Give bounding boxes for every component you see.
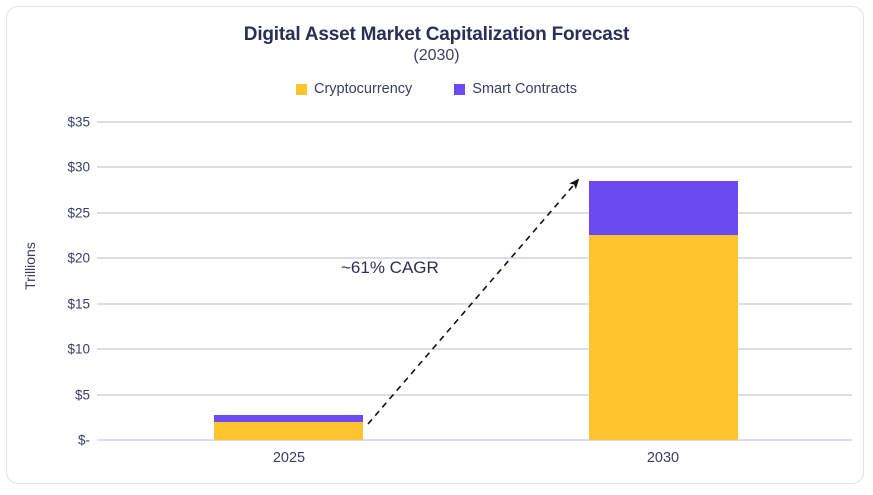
chart-screenshot: Digital Asset Market Capitalization Fore…	[0, 0, 873, 495]
y-axis-tick-label: $5	[20, 387, 90, 402]
gridline	[97, 212, 852, 214]
y-axis-tick-label: $15	[20, 296, 90, 311]
legend-item-smart-contracts[interactable]: Smart Contracts	[454, 81, 577, 97]
x-axis-tick-2030: 2030	[603, 450, 723, 466]
gridline	[97, 348, 852, 350]
x-axis-tick-2025: 2025	[229, 450, 349, 466]
legend-label-smart-contracts: Smart Contracts	[472, 81, 577, 97]
y-axis-tick-label: $35	[20, 115, 90, 130]
cagr-annotation: ~61% CAGR	[341, 258, 439, 278]
gridline	[97, 257, 852, 259]
chart-subtitle: (2030)	[0, 47, 873, 65]
chart-title: Digital Asset Market Capitalization Fore…	[0, 24, 873, 46]
gridline	[97, 121, 852, 123]
legend-swatch-cryptocurrency	[296, 84, 307, 95]
gridline	[97, 394, 852, 396]
legend-item-cryptocurrency[interactable]: Cryptocurrency	[296, 81, 412, 97]
bar-segment-2030-cryptocurrency[interactable]	[589, 235, 738, 440]
bar-segment-2025-smart-contracts[interactable]	[214, 415, 363, 422]
legend-swatch-smart-contracts	[454, 84, 465, 95]
legend-label-cryptocurrency: Cryptocurrency	[314, 81, 412, 97]
y-axis-tick-label: $25	[20, 205, 90, 220]
y-axis-tick-label: $10	[20, 342, 90, 357]
y-axis-tick-label: $30	[20, 160, 90, 175]
axis-baseline	[97, 439, 852, 441]
gridline	[97, 166, 852, 168]
chart-legend: Cryptocurrency Smart Contracts	[0, 81, 873, 97]
gridline	[97, 303, 852, 305]
plot-area	[97, 122, 852, 440]
y-axis-ticks: $-$5$10$15$20$25$30$35	[20, 122, 90, 440]
bar-segment-2030-smart-contracts[interactable]	[589, 181, 738, 235]
bar-segment-2025-cryptocurrency[interactable]	[214, 422, 363, 440]
y-axis-tick-label: $20	[20, 251, 90, 266]
y-axis-tick-label: $-	[20, 433, 90, 448]
